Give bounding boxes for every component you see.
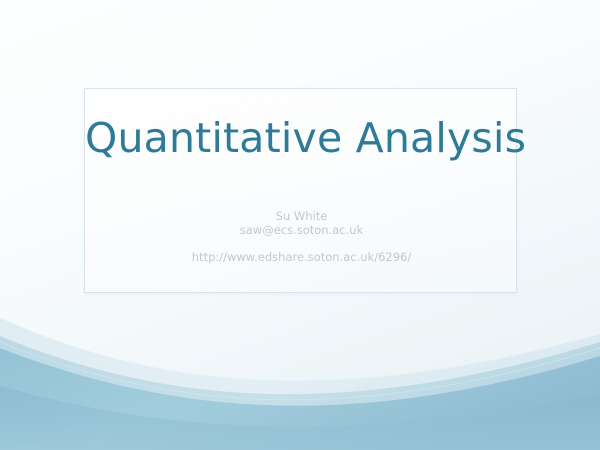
subtitle-spacer (85, 238, 518, 250)
title-content-panel: Quantitative Analysis Su White saw@ecs.s… (84, 88, 517, 293)
decorative-wave-graphic (0, 290, 600, 450)
slide-subtitle: Su White saw@ecs.soton.ac.uk http://www.… (85, 209, 518, 264)
presentation-slide: Quantitative Analysis Su White saw@ecs.s… (0, 0, 600, 450)
resource-url[interactable]: http://www.edshare.soton.ac.uk/6296/ (85, 250, 518, 264)
wave-stroke-upper (0, 318, 600, 381)
wave-layer-highlight (0, 318, 600, 450)
wave-layer-mid (0, 336, 600, 450)
author-name: Su White (85, 209, 518, 223)
wave-layer-main (0, 348, 600, 450)
wave-stroke-mid (0, 342, 600, 400)
wave-layer-deep (0, 386, 600, 450)
author-email: saw@ecs.soton.ac.uk (85, 223, 518, 237)
page-title: Quantitative Analysis (85, 117, 518, 160)
